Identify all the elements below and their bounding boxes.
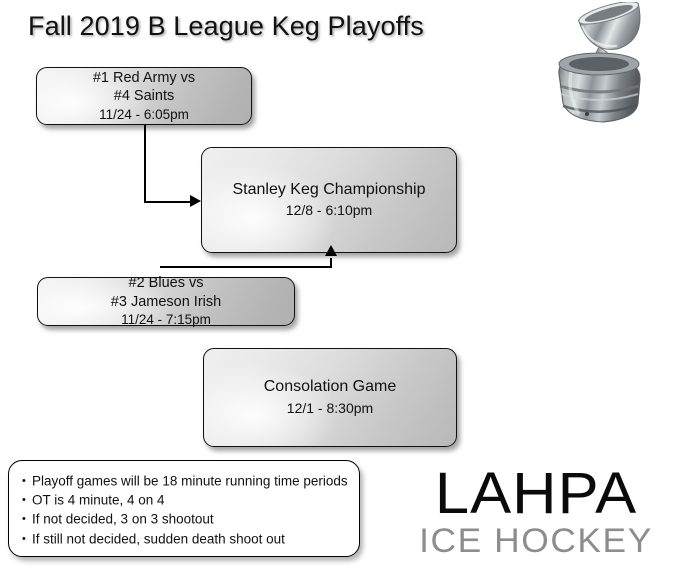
connector-game1-vertical	[144, 125, 146, 203]
consolation-title: Consolation Game	[264, 377, 397, 397]
arrow-right-icon	[190, 195, 201, 207]
connector-game2-vertical	[330, 258, 332, 268]
game2-datetime: 11/24 - 7:15pm	[121, 311, 211, 328]
game2-matchup-line1: #2 Blues vs	[129, 274, 204, 293]
rule-item: OT is 4 minute, 4 on 4	[22, 491, 359, 510]
game1-matchup-line1: #1 Red Army vs	[93, 69, 195, 88]
lahpa-logo: LAHPA ICE HOCKEY	[398, 466, 674, 562]
rules-box: Playoff games will be 18 minute running …	[8, 460, 360, 557]
rule-item: If not decided, 3 on 3 shootout	[22, 510, 359, 529]
bracket-box-game2[interactable]: #2 Blues vs #3 Jameson Irish 11/24 - 7:1…	[37, 277, 295, 326]
arrow-up-icon	[325, 245, 337, 256]
bracket-box-game1[interactable]: #1 Red Army vs #4 Saints 11/24 - 6:05pm	[36, 67, 252, 125]
championship-title: Stanley Keg Championship	[232, 180, 425, 200]
game2-matchup-line2: #3 Jameson Irish	[111, 293, 221, 312]
rules-list: Playoff games will be 18 minute running …	[22, 472, 359, 549]
championship-datetime: 12/8 - 6:10pm	[286, 202, 372, 220]
connector-game1-horizontal	[144, 201, 194, 203]
rule-item: Playoff games will be 18 minute running …	[22, 472, 359, 491]
playoff-bracket-page: Fall 2019 B League Keg Playoffs	[0, 0, 682, 568]
connector-game2-horizontal	[160, 266, 332, 268]
lahpa-logo-tagline: ICE HOCKEY	[392, 523, 679, 559]
page-title: Fall 2019 B League Keg Playoffs	[28, 11, 424, 42]
lahpa-logo-wordmark: LAHPA	[390, 466, 682, 522]
bracket-box-championship[interactable]: Stanley Keg Championship 12/8 - 6:10pm	[201, 147, 457, 253]
consolation-datetime: 12/1 - 8:30pm	[287, 400, 373, 418]
bracket-box-consolation[interactable]: Consolation Game 12/1 - 8:30pm	[203, 348, 457, 447]
rule-item: If still not decided, sudden death shoot…	[22, 530, 359, 549]
game1-matchup-line2: #4 Saints	[114, 87, 174, 106]
game1-datetime: 11/24 - 6:05pm	[99, 106, 189, 123]
stanley-keg-trophy-icon	[527, 2, 675, 124]
